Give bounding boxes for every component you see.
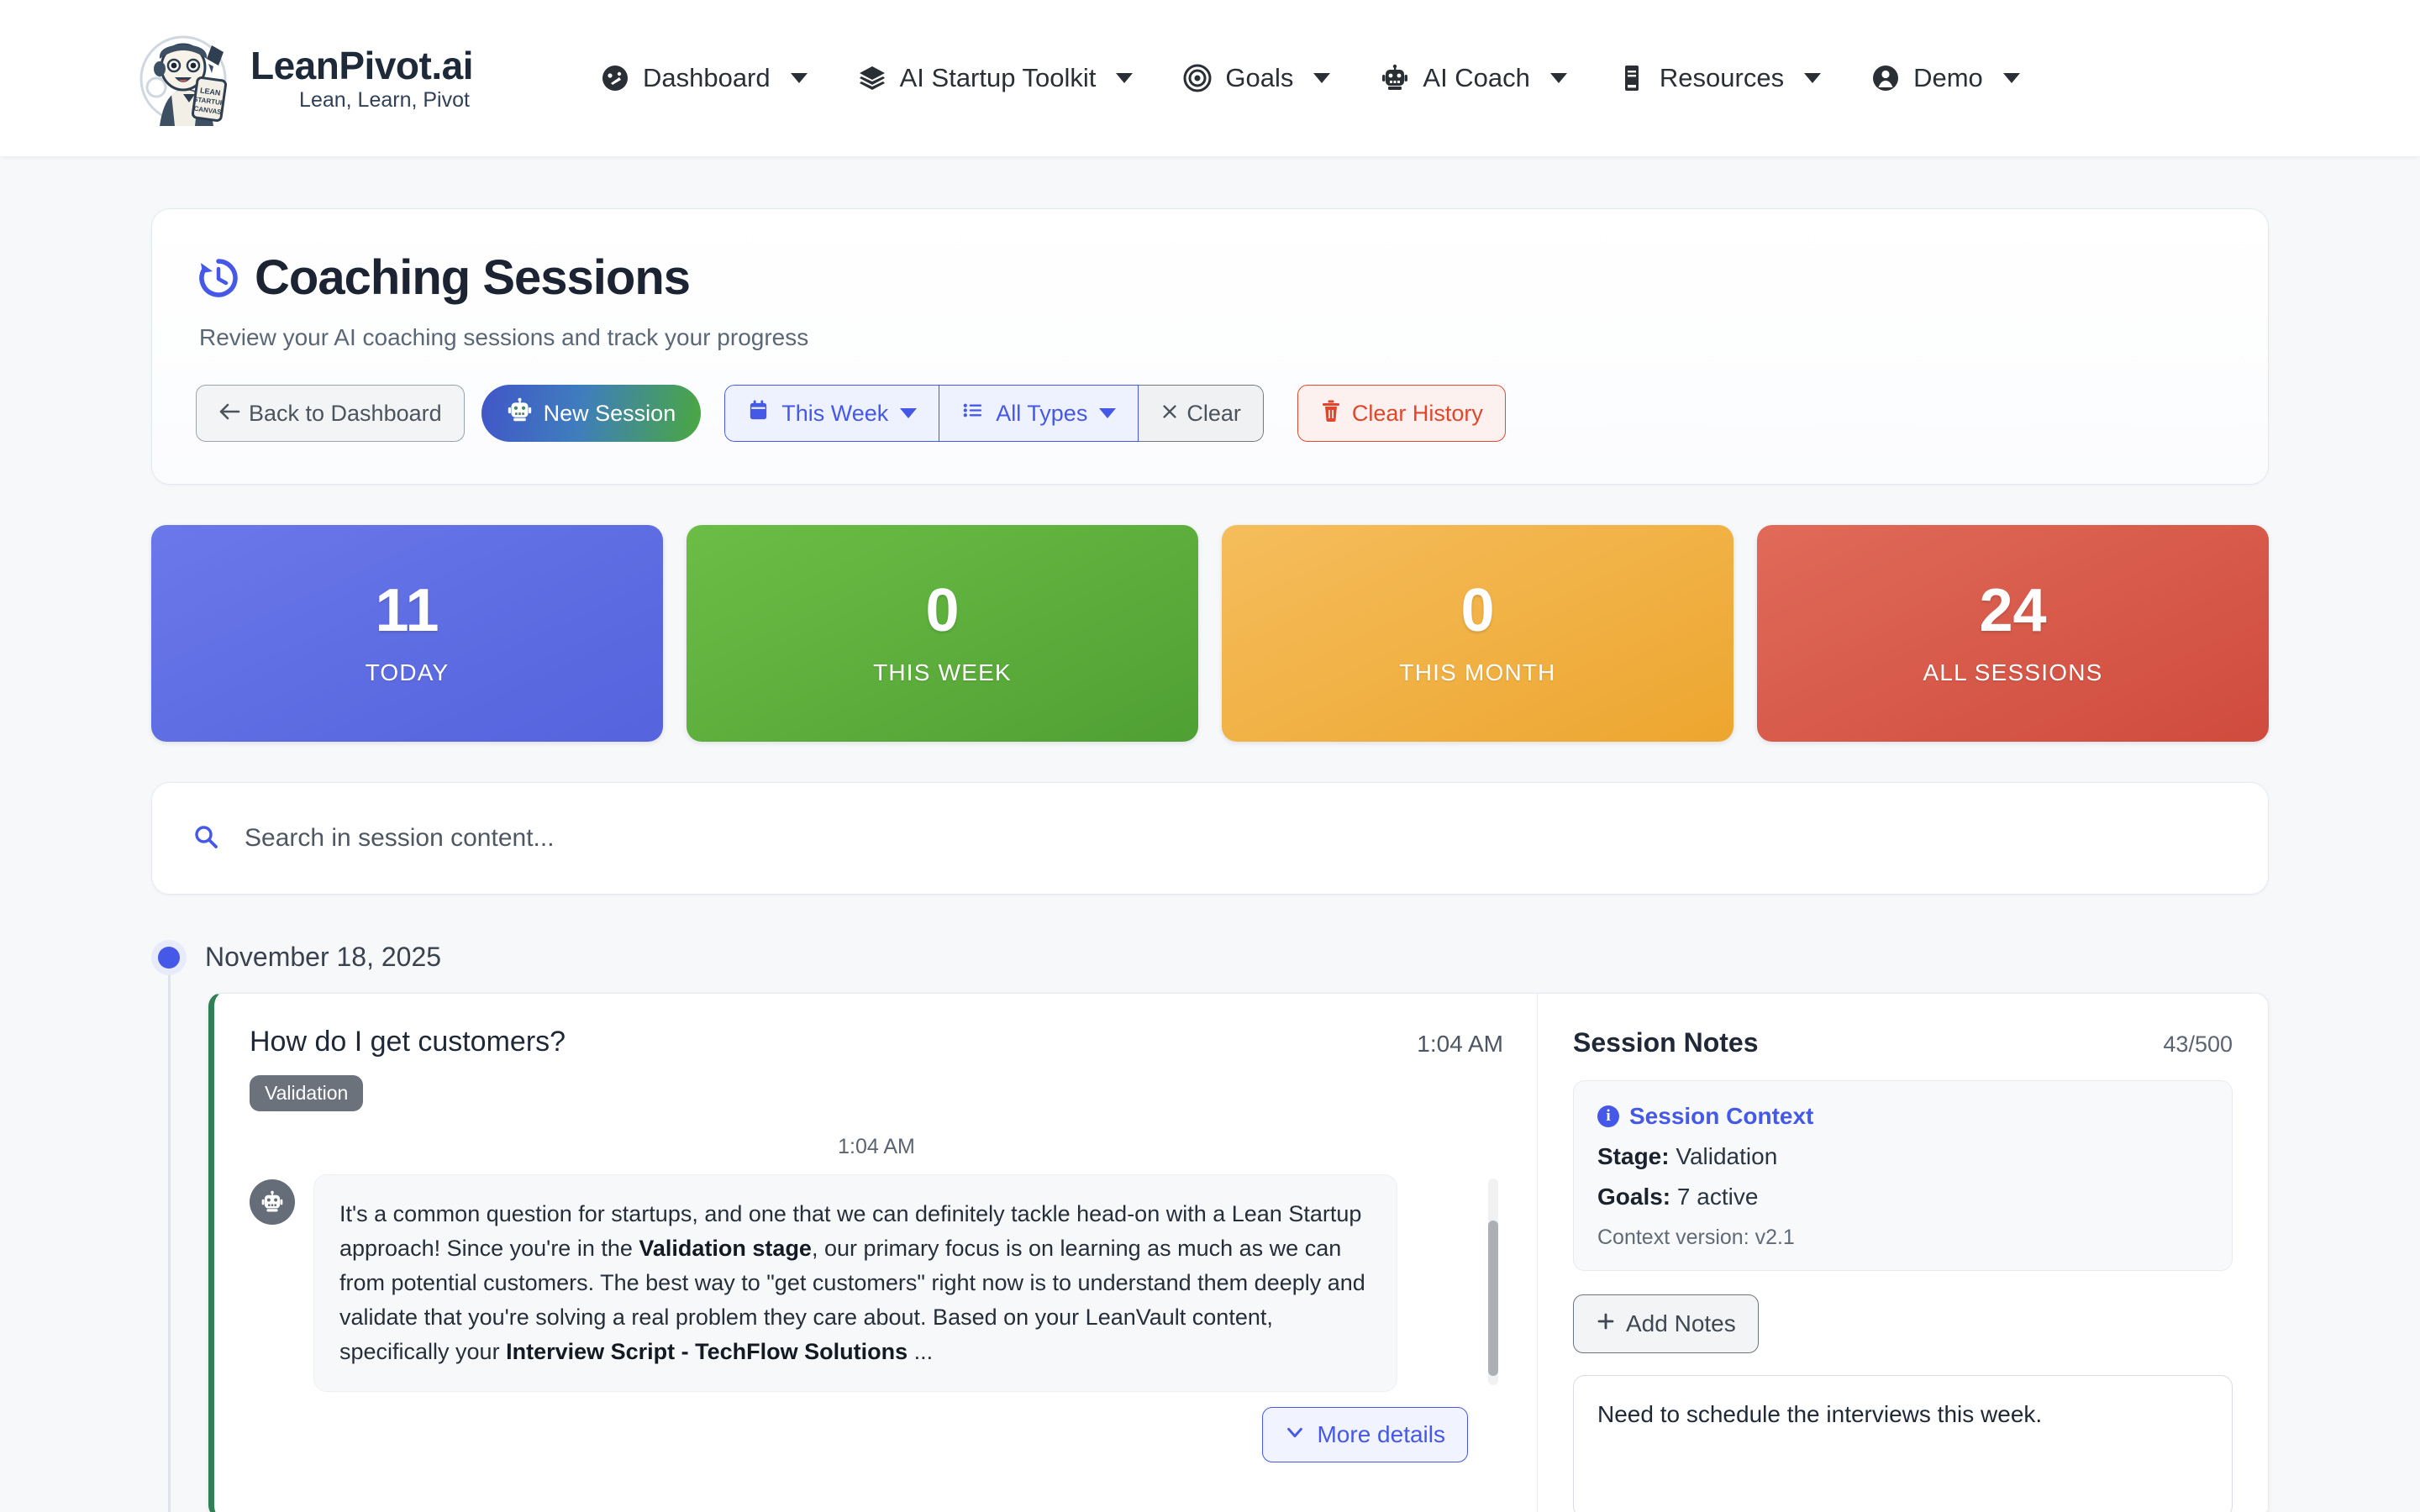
message-bold-1: Validation stage (639, 1236, 812, 1261)
new-session-label: New Session (544, 401, 676, 427)
page-header-panel: Coaching Sessions Review your AI coachin… (151, 208, 2269, 485)
context-stage-label: Stage: (1597, 1143, 1670, 1169)
stat-label: TODAY (366, 659, 450, 686)
more-details-button[interactable]: More details (1262, 1407, 1468, 1462)
session-notes-pane: Session Notes 43/500 i Session Context S… (1537, 994, 2268, 1512)
nav-item-ai-startup-toolkit[interactable]: AI Startup Toolkit (858, 63, 1134, 93)
new-session-button[interactable]: New Session (481, 385, 702, 442)
history-clock-icon (196, 255, 241, 301)
nav-item-demo[interactable]: Demo (1871, 63, 2020, 93)
type-filter-button[interactable]: All Types (939, 385, 1139, 442)
top-navigation-bar: LEAN STARTUP CANVAS LeanPivot.ai Lean, L… (0, 0, 2420, 156)
mascot-lean-startup-canvas-logo: LEAN STARTUP CANVAS (134, 27, 237, 129)
stat-card-this-month[interactable]: 0 THIS MONTH (1222, 525, 1733, 742)
session-time: 1:04 AM (1417, 1026, 1503, 1058)
more-details-label: More details (1317, 1421, 1445, 1448)
stat-label: THIS WEEK (873, 659, 1012, 686)
timeline-dot-icon (158, 947, 180, 969)
search-icon (192, 823, 219, 854)
nav-item-goals[interactable]: Goals (1183, 63, 1330, 93)
date-filter-button[interactable]: This Week (724, 385, 939, 442)
more-details-row: More details (250, 1407, 1503, 1462)
page-content: Coaching Sessions Review your AI coachin… (0, 208, 2420, 1512)
chevron-down-icon[interactable] (1804, 73, 1821, 83)
nav-item-ai-coach[interactable]: AI Coach (1381, 63, 1567, 93)
session-context-title: Session Context (1629, 1103, 1813, 1130)
session-notes-title: Session Notes (1573, 1027, 1759, 1058)
nav-label: Demo (1913, 63, 1983, 93)
chat-message-assistant: It's a common question for startups, and… (250, 1174, 1503, 1392)
stats-row: 11 TODAY 0 THIS WEEK 0 THIS MONTH 24 ALL… (151, 525, 2269, 742)
sessions-timeline: November 18, 2025 How do I get customers… (151, 942, 2269, 1512)
stat-label: THIS MONTH (1399, 659, 1555, 686)
add-notes-button[interactable]: Add Notes (1573, 1294, 1759, 1353)
add-notes-label: Add Notes (1626, 1310, 1736, 1337)
message-text-3: ... (907, 1339, 933, 1364)
chat-message-bubble: It's a common question for startups, and… (313, 1174, 1397, 1392)
chevron-down-icon[interactable] (1116, 73, 1133, 83)
search-input[interactable] (245, 824, 2228, 853)
robot-icon (507, 397, 533, 429)
nav-label: Resources (1660, 63, 1784, 93)
layers-stack-icon (858, 64, 886, 92)
stat-value: 0 (1460, 580, 1494, 641)
context-stage-value: Validation (1676, 1143, 1777, 1169)
session-header-row: How do I get customers? Validation 1:04 … (250, 1026, 1503, 1111)
nav-label: AI Coach (1423, 63, 1530, 93)
nav-links: Dashboard AI Startup Toolkit Goals AI Co… (601, 63, 2020, 93)
clear-filters-button[interactable]: Clear (1139, 385, 1264, 442)
chevron-down-icon[interactable] (900, 408, 917, 418)
stat-value: 11 (375, 580, 439, 641)
nav-label: AI Startup Toolkit (900, 63, 1097, 93)
chat-scrollbar-track[interactable] (1488, 1179, 1498, 1385)
stat-card-this-week[interactable]: 0 THIS WEEK (687, 525, 1198, 742)
session-context-header: i Session Context (1597, 1103, 2208, 1130)
page-title-text: Coaching Sessions (255, 249, 690, 306)
search-bar[interactable] (151, 782, 2269, 895)
session-stage-badge: Validation (250, 1075, 363, 1111)
clear-history-button[interactable]: Clear History (1297, 385, 1506, 442)
context-stage-row: Stage: Validation (1597, 1143, 2208, 1170)
speedometer-icon (601, 64, 629, 92)
nav-label: Dashboard (643, 63, 771, 93)
nav-label: Goals (1225, 63, 1293, 93)
chevron-down-icon[interactable] (1313, 73, 1330, 83)
brand-tagline: Lean, Learn, Pivot (250, 90, 473, 111)
clear-filters-label: Clear (1186, 401, 1241, 427)
session-title: How do I get customers? (250, 1026, 566, 1058)
timeline-connector (168, 975, 171, 1512)
stat-card-today[interactable]: 11 TODAY (151, 525, 663, 742)
info-icon: i (1597, 1105, 1619, 1127)
context-goals-value: 7 active (1677, 1184, 1759, 1210)
chevron-down-icon[interactable] (2003, 73, 2020, 83)
list-icon (961, 399, 984, 428)
chevron-down-icon[interactable] (1550, 73, 1567, 83)
timeline-date-header: November 18, 2025 (151, 942, 2269, 973)
context-goals-row: Goals: 7 active (1597, 1184, 2208, 1210)
brand-name: LeanPivot.ai (250, 46, 473, 85)
stat-value: 24 (1979, 580, 2046, 641)
stat-value: 0 (925, 580, 959, 641)
stat-card-all-sessions[interactable]: 24 ALL SESSIONS (1757, 525, 2269, 742)
context-goals-label: Goals: (1597, 1184, 1670, 1210)
toolbar: Back to Dashboard New Session This Week (196, 385, 2224, 442)
robot-icon (1381, 64, 1409, 92)
chevron-down-icon[interactable] (1099, 408, 1116, 418)
chat-scrollbar-thumb[interactable] (1488, 1221, 1498, 1376)
session-context-box: i Session Context Stage: Validation Goal… (1573, 1080, 2233, 1271)
arrow-left-icon (218, 401, 240, 427)
filter-segmented-group: This Week All Types Clear (724, 385, 1264, 442)
message-timestamp: 1:04 AM (250, 1135, 1503, 1159)
plus-icon (1596, 1310, 1616, 1337)
back-to-dashboard-button[interactable]: Back to Dashboard (196, 385, 465, 442)
chevron-down-icon (1285, 1421, 1305, 1448)
nav-item-dashboard[interactable]: Dashboard (601, 63, 808, 93)
page-title: Coaching Sessions (196, 249, 2224, 306)
brand-logo[interactable]: LEAN STARTUP CANVAS LeanPivot.ai Lean, L… (134, 27, 473, 129)
nav-item-resources[interactable]: Resources (1618, 63, 1821, 93)
timeline-date-label: November 18, 2025 (205, 942, 441, 973)
type-filter-label: All Types (996, 401, 1087, 427)
back-to-dashboard-label: Back to Dashboard (249, 401, 442, 427)
context-version: Context version: v2.1 (1597, 1226, 2208, 1250)
message-bold-2: Interview Script - TechFlow Solutions (506, 1339, 907, 1364)
trash-icon (1320, 399, 1342, 428)
book-icon (1618, 64, 1646, 92)
stat-label: ALL SESSIONS (1923, 659, 2102, 686)
user-circle-icon (1871, 64, 1900, 92)
session-notes-header: Session Notes 43/500 (1573, 1027, 2233, 1058)
session-notes-textarea[interactable]: Need to schedule the interviews this wee… (1573, 1375, 2233, 1512)
session-conversation-pane: How do I get customers? Validation 1:04 … (214, 994, 1537, 1512)
robot-icon (250, 1179, 295, 1225)
session-notes-counter: 43/500 (2163, 1032, 2233, 1058)
session-card[interactable]: How do I get customers? Validation 1:04 … (208, 993, 2269, 1512)
date-filter-label: This Week (781, 401, 888, 427)
x-icon (1160, 401, 1179, 427)
page-subtitle: Review your AI coaching sessions and tra… (199, 324, 2224, 351)
calendar-icon (747, 399, 770, 428)
chat-scroll-area[interactable]: 1:04 AM It's a common question for start… (250, 1135, 1503, 1392)
clear-history-label: Clear History (1352, 401, 1483, 427)
target-icon (1183, 64, 1212, 92)
chevron-down-icon[interactable] (791, 73, 808, 83)
